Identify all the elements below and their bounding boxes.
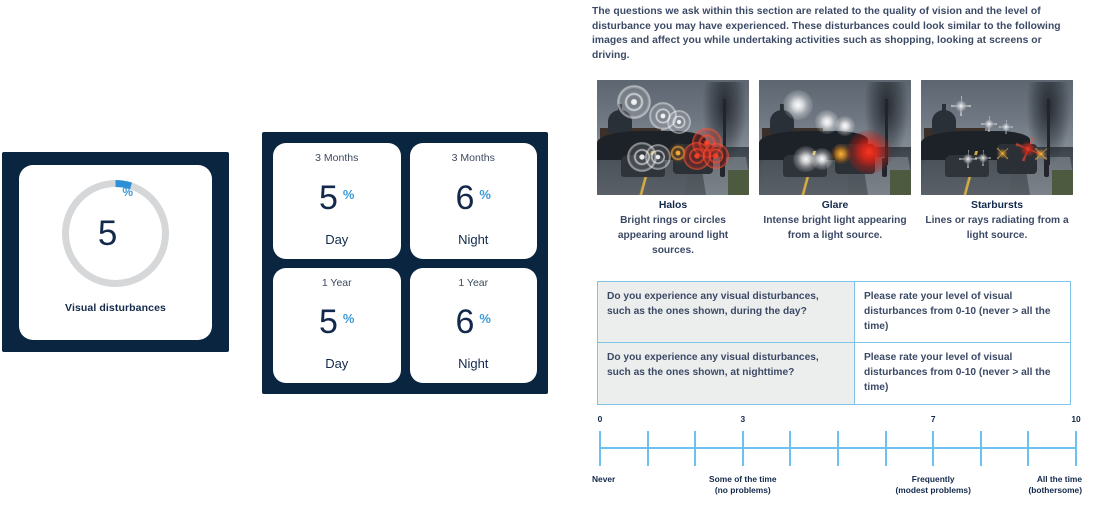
stat-period: 1 Year: [458, 277, 488, 289]
answer-cell: Please rate your level of visual disturb…: [855, 343, 1071, 404]
scale-tick[interactable]: [647, 431, 649, 466]
stat-value: 6: [456, 305, 475, 339]
donut-percent-symbol: %: [122, 185, 133, 199]
glare-street-scene: [759, 80, 911, 195]
caption-title: Halos: [597, 200, 749, 211]
stat-time-of-day: Night: [458, 232, 488, 247]
donut-value: 5: [98, 216, 117, 251]
table-row: Do you experience any visual disturbance…: [598, 282, 1071, 343]
stat-period: 3 Months: [452, 152, 495, 164]
stat-percent-symbol: %: [479, 311, 491, 326]
halos-street-scene: [597, 80, 749, 195]
scale-tick[interactable]: [1027, 431, 1029, 466]
stat-time-of-day: Night: [458, 356, 488, 371]
donut-center-value: 5 %: [59, 177, 172, 290]
visual-disturbances-panel: 5 % Visual disturbances: [2, 152, 229, 352]
stat-value: 6: [456, 181, 475, 215]
scale-tick[interactable]: [742, 431, 744, 466]
answer-cell: Please rate your level of visual disturb…: [855, 282, 1071, 343]
scale-anchor-label: Some of the time(no problems): [709, 474, 776, 497]
caption-description: Lines or rays radiating from a light sou…: [921, 214, 1073, 244]
scale-anchor-label: All the time(bothersome): [1028, 474, 1082, 497]
question-cell: Do you experience any visual disturbance…: [598, 343, 855, 404]
stat-value: 5: [319, 305, 338, 339]
scale-anchor-label: Frequently(modest problems): [895, 474, 970, 497]
caption-description: Intense bright light appearing from a li…: [759, 214, 911, 244]
scale-tick[interactable]: [980, 431, 982, 466]
stat-value: 5: [319, 181, 338, 215]
stat-value-row: 6 %: [456, 181, 491, 215]
stat-card: 3 Months 5 % Day: [273, 143, 401, 259]
scale-tick-label: 10: [1071, 414, 1080, 424]
scale-tick[interactable]: [1075, 431, 1077, 466]
scale-tick[interactable]: [599, 431, 601, 466]
caption-glare: Glare Intense bright light appearing fro…: [759, 200, 911, 258]
stat-percent-symbol: %: [479, 187, 491, 202]
question-cell: Do you experience any visual disturbance…: [598, 282, 855, 343]
stat-card: 1 Year 5 % Day: [273, 268, 401, 384]
stat-percent-symbol: %: [343, 311, 355, 326]
scale-tick-label: 0: [598, 414, 603, 424]
stat-value-row: 5 %: [319, 181, 354, 215]
stat-period: 3 Months: [315, 152, 358, 164]
stat-value-row: 6 %: [456, 305, 491, 339]
caption-title: Glare: [759, 200, 911, 211]
stat-period: 1 Year: [322, 277, 352, 289]
stat-time-of-day: Day: [325, 356, 348, 371]
stat-value-row: 5 %: [319, 305, 354, 339]
donut-card: 5 % Visual disturbances: [19, 165, 212, 340]
scale-anchor-label: Never: [592, 474, 615, 485]
stat-percent-symbol: %: [343, 187, 355, 202]
scale-tick[interactable]: [837, 431, 839, 466]
donut-label: Visual disturbances: [65, 302, 166, 314]
donut-chart: 5 %: [59, 177, 172, 290]
table-row: Do you experience any visual disturbance…: [598, 343, 1071, 404]
caption-starbursts: Starbursts Lines or rays radiating from …: [921, 200, 1073, 258]
stat-card: 1 Year 6 % Night: [410, 268, 538, 384]
scale-tick[interactable]: [932, 431, 934, 466]
scale-tick-label: 3: [740, 414, 745, 424]
rating-scale[interactable]: 03710 NeverSome of the time(no problems)…: [592, 408, 1084, 500]
stat-card: 3 Months 6 % Night: [410, 143, 538, 259]
questionnaire-section: The questions we ask within this section…: [592, 0, 1084, 63]
caption-description: Bright rings or circles appearing around…: [597, 214, 749, 258]
intro-paragraph: The questions we ask within this section…: [592, 0, 1074, 63]
questions-table: Do you experience any visual disturbance…: [597, 281, 1071, 405]
scale-tick[interactable]: [885, 431, 887, 466]
caption-halos: Halos Bright rings or circles appearing …: [597, 200, 749, 258]
scale-tick[interactable]: [694, 431, 696, 466]
image-captions: Halos Bright rings or circles appearing …: [597, 200, 1073, 258]
caption-title: Starbursts: [921, 200, 1073, 211]
scale-tick[interactable]: [789, 431, 791, 466]
stat-time-of-day: Day: [325, 232, 348, 247]
stats-grid-panel: 3 Months 5 % Day 3 Months 6 % Night 1 Ye…: [262, 132, 548, 394]
scale-tick-label: 7: [931, 414, 936, 424]
starbursts-street-scene: [921, 80, 1073, 195]
disturbance-image-strip: [597, 80, 1073, 195]
